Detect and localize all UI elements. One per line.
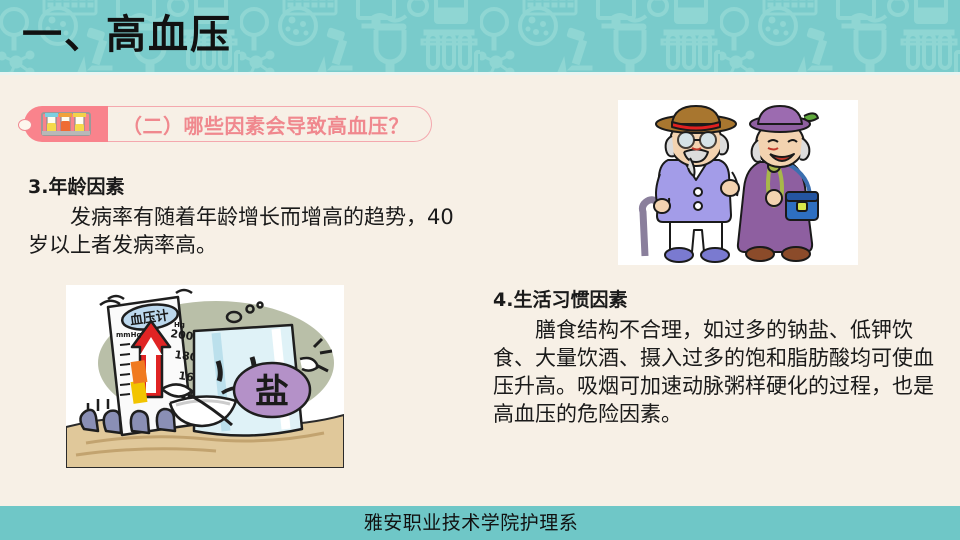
svg-text:Hg: Hg xyxy=(174,321,185,329)
left-heading: 3.年龄因素 xyxy=(28,172,458,199)
right-heading: 4.生活习惯因素 xyxy=(493,285,941,312)
slide-header: 一、高血压 xyxy=(0,0,960,75)
content-block-left: 3.年龄因素 发病率有随着年龄增长而增高的趋势，40岁以上者发病率高。 xyxy=(28,172,458,259)
page-title: 一、高血压 xyxy=(22,4,232,66)
header-bottom-strip xyxy=(0,72,960,75)
svg-text:mmHg: mmHg xyxy=(116,331,141,339)
section-banner: （二）哪些因素会导致高血压？ xyxy=(18,106,432,142)
left-body: 发病率有随着年龄增长而增高的趋势，40岁以上者发病率高。 xyxy=(28,203,458,259)
test-tubes-icon xyxy=(41,111,91,137)
banner-title: （二）哪些因素会导致高血压？ xyxy=(122,110,409,139)
banner-bullet-dot xyxy=(18,119,32,131)
right-body: 膳食结构不合理，如过多的钠盐、低钾饮食、大量饮酒、摄入过多的饱和脂肪酸均可使血压… xyxy=(493,316,941,429)
content-block-right: 4.生活习惯因素 膳食结构不合理，如过多的钠盐、低钾饮食、大量饮酒、摄入过多的饱… xyxy=(493,285,941,429)
slide-footer: 雅安职业技术学院护理系 xyxy=(0,506,960,540)
salt-blood-pressure-illustration: 血压计 200 180 160 140 mmHg Hg xyxy=(66,285,344,468)
banner-pill: （二）哪些因素会导致高血压？ xyxy=(24,106,432,142)
banner-icon-area xyxy=(24,106,108,142)
banner-text-area: （二）哪些因素会导致高血压？ xyxy=(108,106,432,142)
footer-label: 雅安职业技术学院护理系 xyxy=(0,506,960,540)
slide-root: 一、高血压 （二）哪些因 xyxy=(0,0,960,540)
elderly-couple-illustration xyxy=(618,100,858,265)
svg-text:盐: 盐 xyxy=(255,372,289,412)
